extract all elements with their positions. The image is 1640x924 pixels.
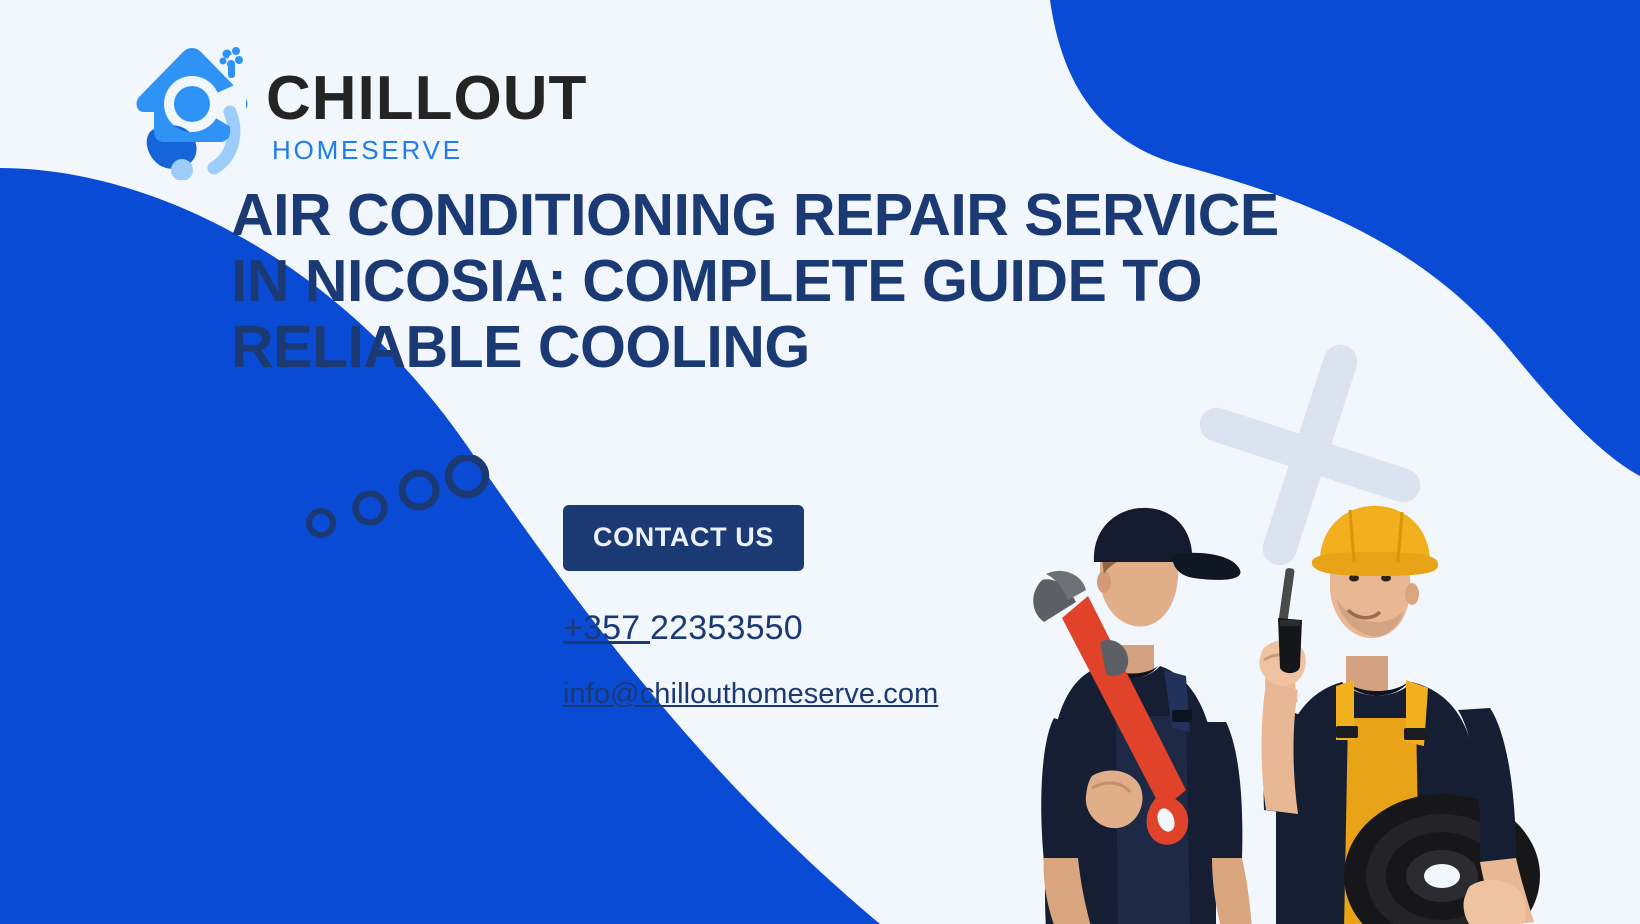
right-tech-buckle-left: [1336, 726, 1358, 738]
technician-with-pipe-wrench: [1033, 508, 1252, 924]
headline-line-2: IN NICOSIA: COMPLETE GUIDE TO: [231, 248, 1351, 314]
right-tech-hat-brim: [1312, 552, 1438, 576]
right-tech-buckle-right: [1404, 728, 1426, 740]
phone-number[interactable]: +357 22353550: [563, 609, 938, 648]
left-tech-cap-brim: [1172, 553, 1240, 580]
left-tech-strap-buckle: [1172, 710, 1192, 722]
black-screwdriver: [1278, 568, 1302, 673]
contact-us-button[interactable]: CONTACT US: [563, 505, 804, 571]
logo-subtitle: HOMESERVE: [266, 135, 587, 166]
phone-country-code: +357: [563, 609, 650, 647]
headline-line-3: RELIABLE COOLING: [231, 314, 1351, 380]
right-tech-ear: [1405, 583, 1419, 605]
left-tech-forearm-2: [1212, 858, 1252, 924]
right-tech-upper-arm: [1262, 684, 1299, 814]
chillout-house-c-logo-icon: [126, 40, 258, 180]
logo-wordmark: CHILLOUT: [266, 70, 587, 129]
technician-with-screwdriver: [1259, 506, 1540, 924]
logo-c-core: [174, 86, 210, 122]
left-tech-ear: [1097, 571, 1111, 593]
dotted-rings-decoration: [295, 455, 505, 545]
ring-3: [402, 473, 436, 507]
ring-2: [356, 494, 385, 523]
ring-4: [449, 458, 486, 495]
contact-block: CONTACT US +357 22353550 info@chilloutho…: [563, 505, 938, 711]
two-hvac-technicians-photo: [950, 470, 1640, 924]
page-title: AIR CONDITIONING REPAIR SERVICE IN NICOS…: [231, 182, 1351, 380]
headline-line-1: AIR CONDITIONING REPAIR SERVICE: [231, 182, 1351, 248]
email-address[interactable]: info@chillouthomeserve.com: [563, 678, 938, 711]
hero-banner: CHILLOUT HOMESERVE AIR CONDITIONING REPA…: [0, 0, 1640, 924]
logo[interactable]: CHILLOUT HOMESERVE: [126, 40, 587, 180]
phone-local-number: 22353550: [650, 609, 803, 647]
logo-dot: [171, 159, 193, 180]
ring-1: [309, 511, 333, 535]
logo-fan-icon: [220, 47, 244, 78]
